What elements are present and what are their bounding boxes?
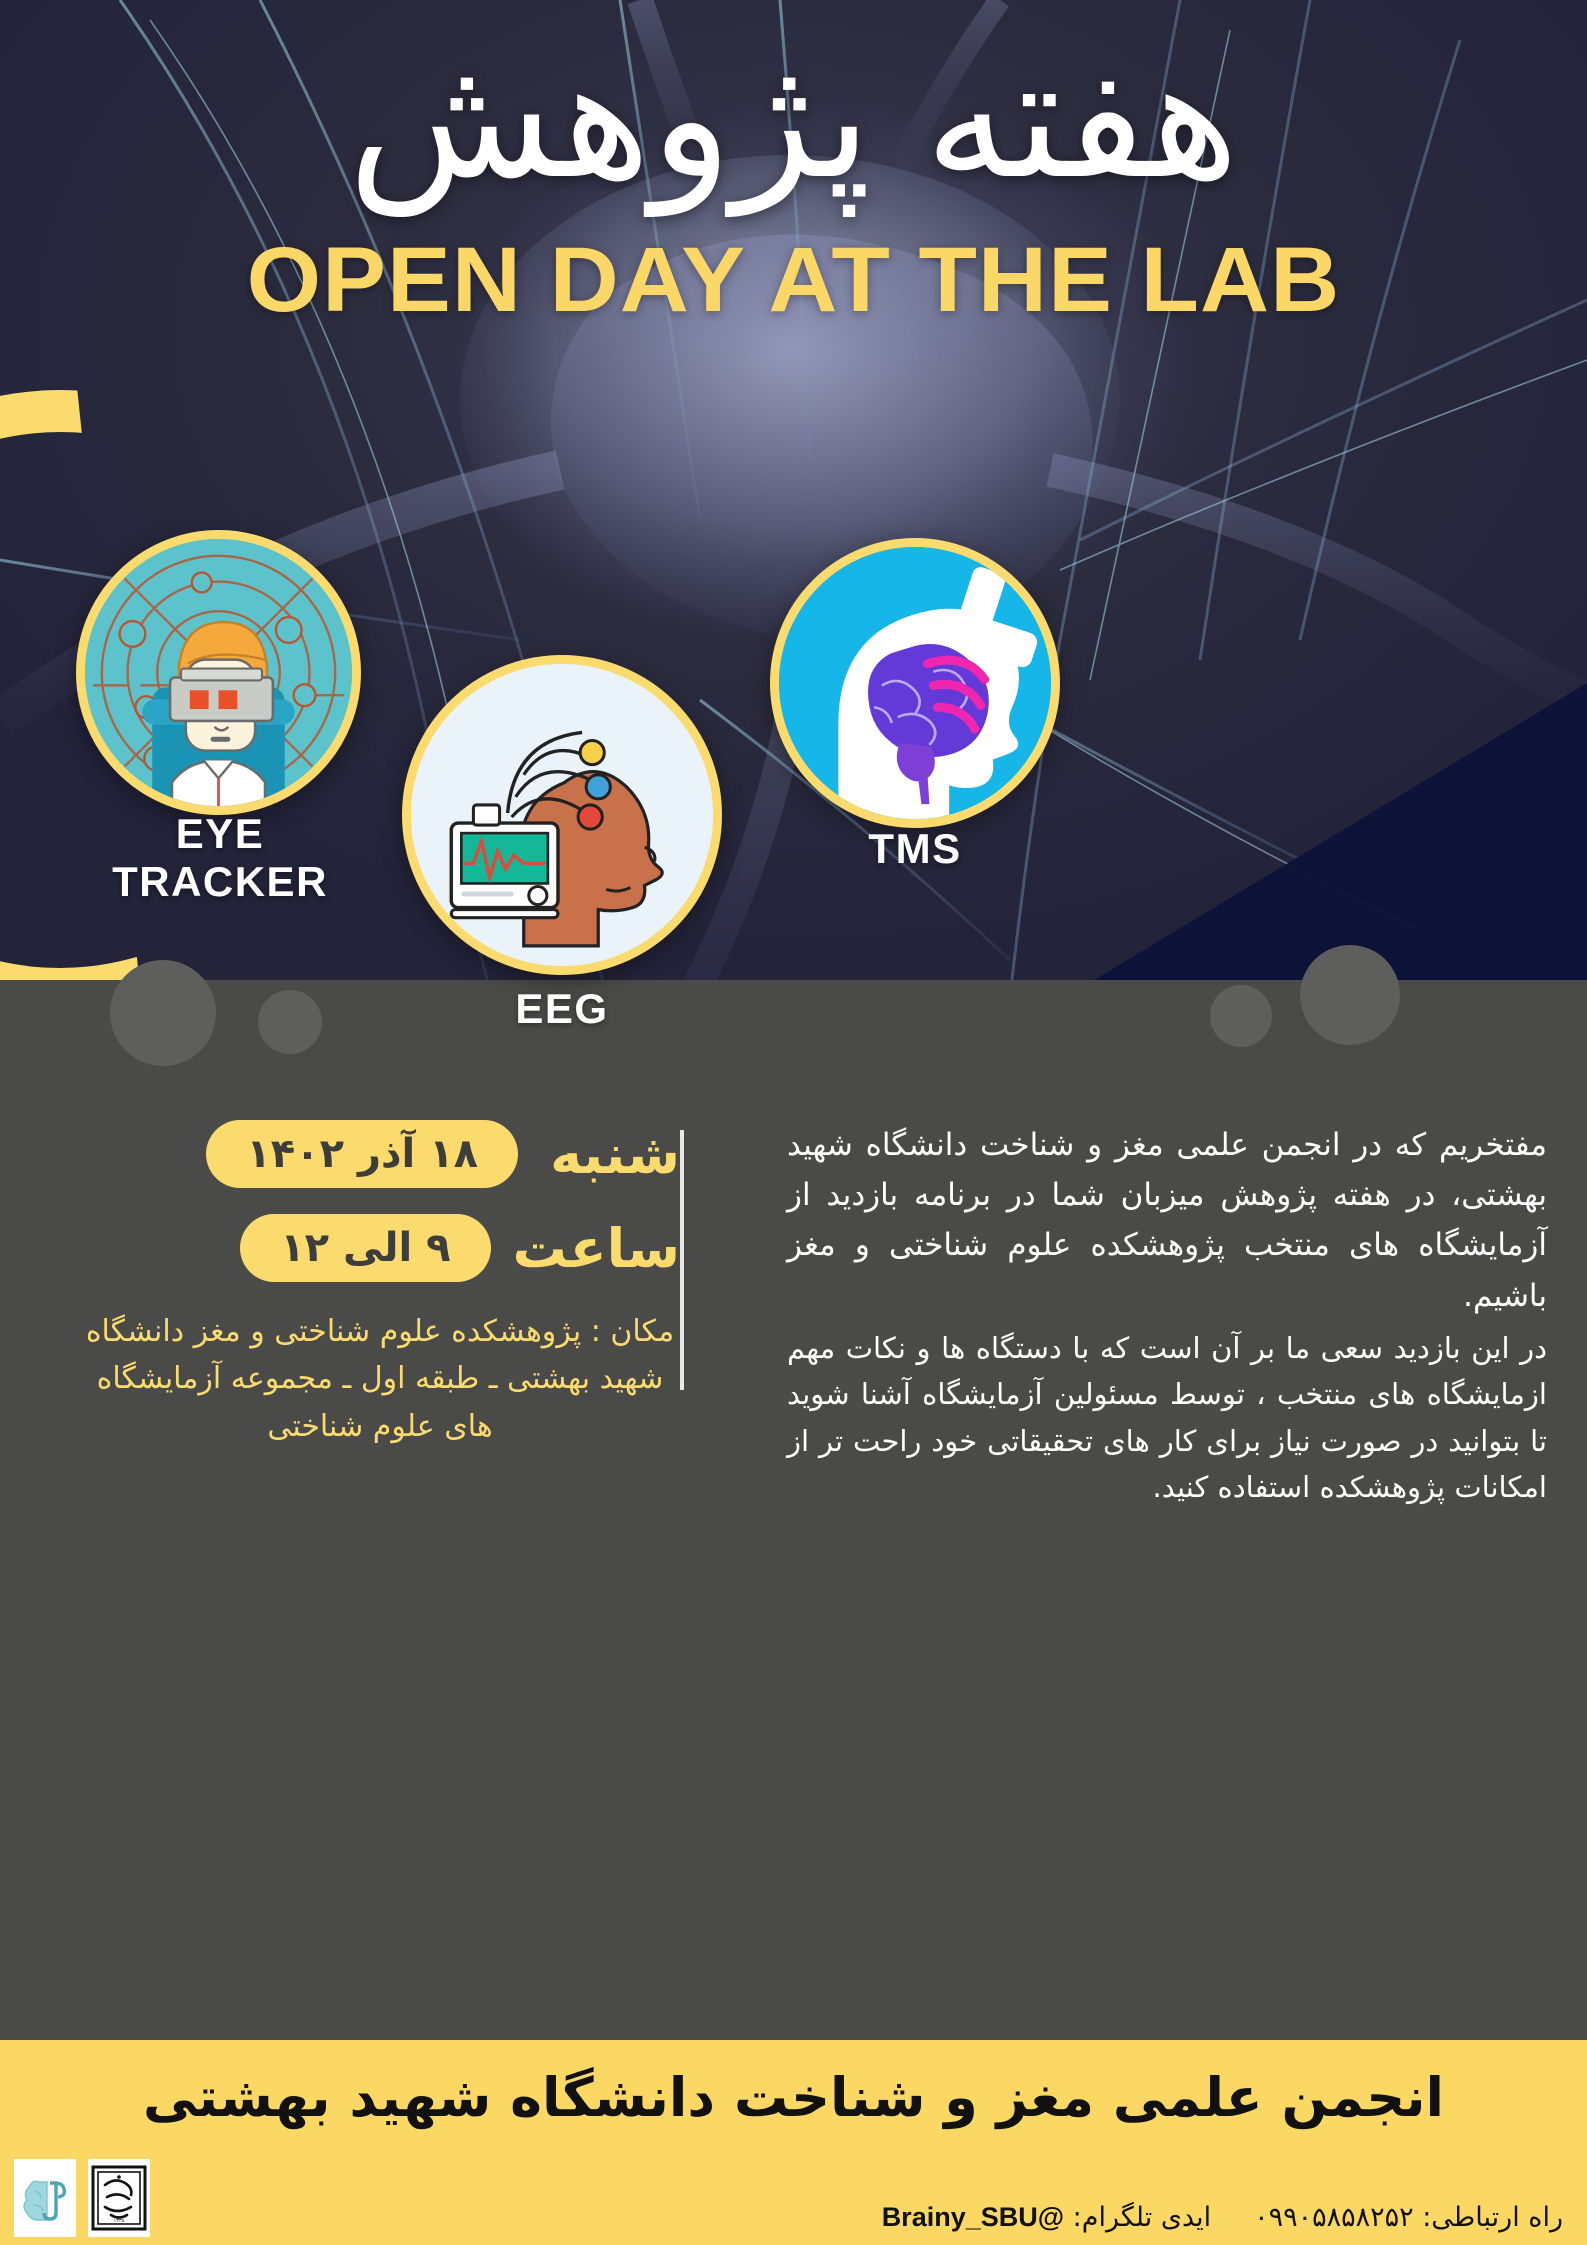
shahid-beheshti-university-logo: ۱۳۳۸	[88, 2159, 150, 2237]
decor-dot	[258, 990, 322, 1054]
lab-label-tms: TMS	[780, 825, 1050, 873]
contact-phone: ۰۹۹۰۵۸۵۸۲۵۲	[1254, 2202, 1414, 2233]
lab-circle-eeg[interactable]	[402, 655, 722, 975]
schedule-block: شنبه ۱۸ آذر ۱۴۰۲ ساعت ۹ الی ۱۲ مکان : پژ…	[60, 1120, 680, 1450]
schedule-date-pill: ۱۸ آذر ۱۴۰۲	[206, 1120, 518, 1188]
brain-logo-icon	[17, 2163, 73, 2233]
decor-dot	[110, 960, 216, 1066]
lab-circle-tms[interactable]	[770, 538, 1060, 828]
description-block: مفتخریم که در انجمن علمی مغز و شناخت دان…	[787, 1120, 1547, 1514]
decor-dot	[1210, 985, 1272, 1047]
eye-tracker-icon	[85, 539, 352, 806]
venue-text: مکان : پژوهشکده علوم شناختی و مغز دانشگا…	[60, 1308, 680, 1450]
schedule-day-label: شنبه	[540, 1123, 680, 1186]
lab-label-eye-tracker: EYE TRACKER	[70, 810, 370, 906]
footer-contact: راه ارتباطی: ۰۹۹۰۵۸۵۸۲۵۲ ایدی تلگرام: @B…	[882, 2202, 1563, 2233]
svg-text:۱۳۳۸: ۱۳۳۸	[114, 2218, 125, 2224]
description-paragraph-1: مفتخریم که در انجمن علمی مغز و شناخت دان…	[787, 1120, 1547, 1321]
page-title-persian: هفته پژوهش	[0, 30, 1587, 206]
schedule-time-pill: ۹ الی ۱۲	[240, 1214, 490, 1282]
schedule-row-date: شنبه ۱۸ آذر ۱۴۰۲	[60, 1120, 680, 1188]
footer-organization: انجمن علمی مغز و شناخت دانشگاه شهید بهشت…	[0, 2066, 1587, 2129]
university-seal-icon: ۱۳۳۸	[91, 2163, 147, 2233]
lab-label-eeg: EEG	[412, 985, 712, 1033]
eeg-cap-icon	[411, 664, 713, 966]
schedule-time-label: ساعت	[513, 1217, 680, 1280]
footer-logos: ۱۳۳۸	[14, 2159, 150, 2237]
vertical-divider	[680, 1130, 684, 1390]
poster-root: هفته پژوهش OPEN DAY AT THE LAB	[0, 0, 1587, 2245]
decor-dot	[1300, 945, 1400, 1045]
telegram-label: ایدی تلگرام:	[1073, 2202, 1211, 2233]
lab-circle-eye-tracker[interactable]	[76, 530, 361, 815]
contact-label: راه ارتباطی:	[1422, 2202, 1563, 2233]
brain-society-logo	[14, 2159, 76, 2237]
tms-coil-icon	[779, 547, 1051, 819]
description-paragraph-2: در این بازدید سعی ما بر آن است که با دست…	[787, 1325, 1547, 1511]
page-title-english: OPEN DAY AT THE LAB	[0, 228, 1587, 333]
schedule-row-time: ساعت ۹ الی ۱۲	[60, 1214, 680, 1282]
telegram-handle[interactable]: @Brainy_SBU	[882, 2202, 1064, 2232]
info-section: مفتخریم که در انجمن علمی مغز و شناخت دان…	[0, 1100, 1587, 2040]
footer-banner: انجمن علمی مغز و شناخت دانشگاه شهید بهشت…	[0, 2040, 1587, 2245]
